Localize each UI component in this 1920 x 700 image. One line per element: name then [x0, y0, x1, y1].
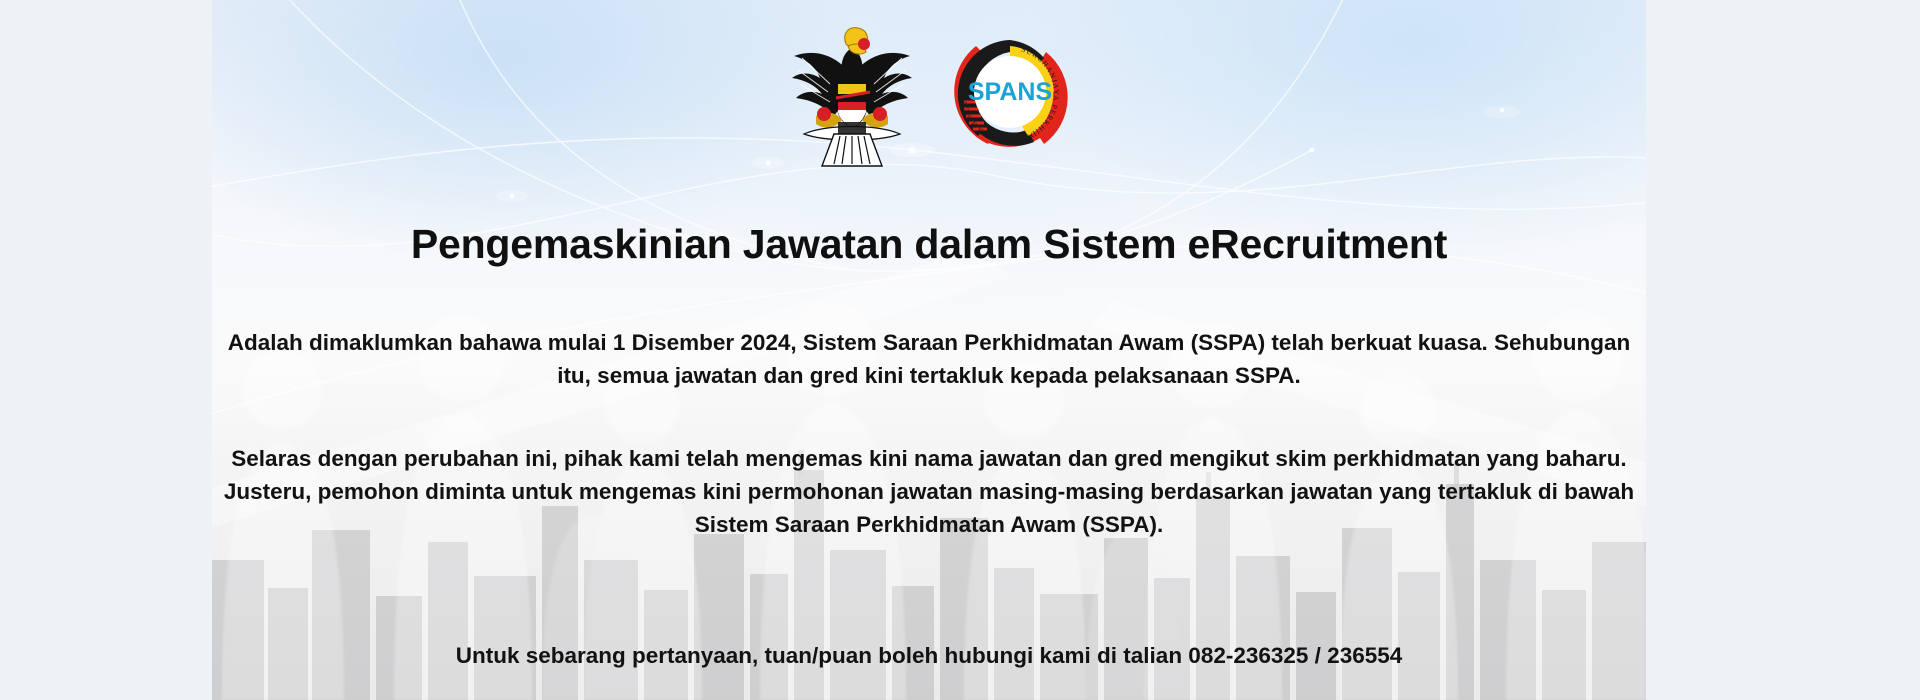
announcement-contact-line: Untuk sebarang pertanyaan, tuan/puan bol…: [219, 640, 1639, 673]
announcement-paragraph-2: Selaras dengan perubahan ini, pihak kami…: [219, 443, 1639, 542]
page-title: Pengemaskinian Jawatan dalam Sistem eRec…: [212, 222, 1646, 267]
announcement-content: Pengemaskinian Jawatan dalam Sistem eRec…: [212, 0, 1646, 700]
announcement-page: SURUHANJAYA PERKHIDMATAN AWAM NEGERI SAR…: [0, 0, 1920, 700]
announcement-banner: SURUHANJAYA PERKHIDMATAN AWAM NEGERI SAR…: [212, 0, 1646, 700]
announcement-paragraph-1: Adalah dimaklumkan bahawa mulai 1 Disemb…: [219, 327, 1639, 393]
